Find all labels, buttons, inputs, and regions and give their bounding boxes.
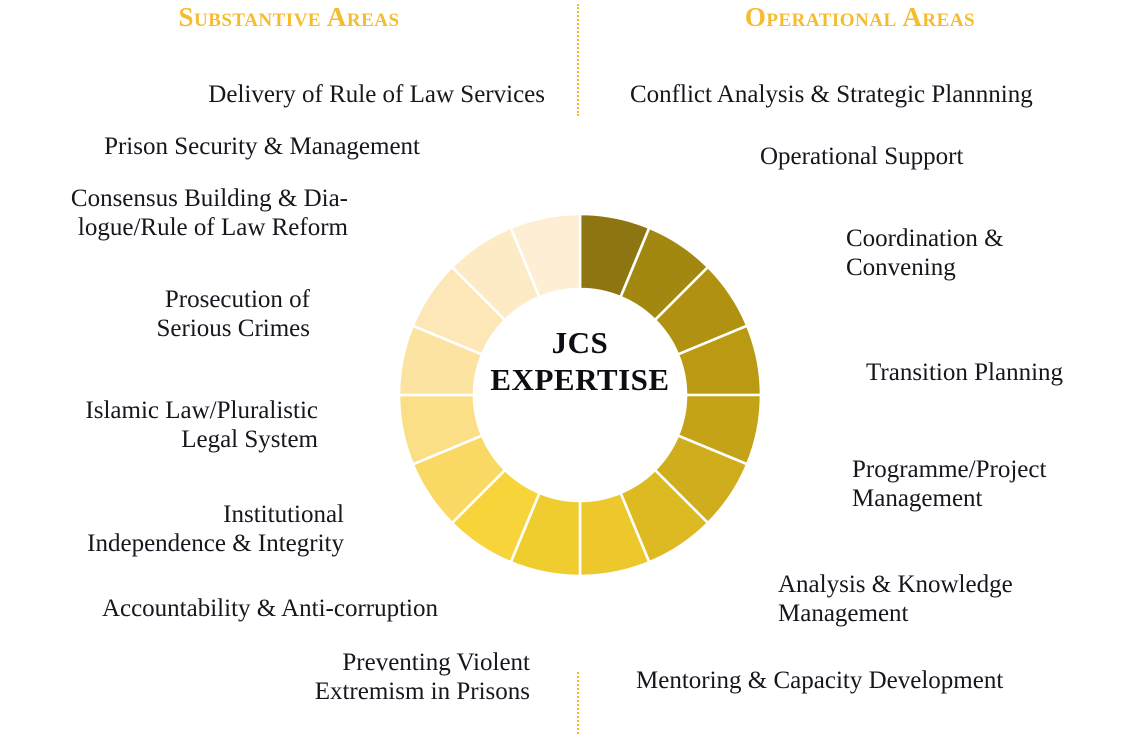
donut-segment-group <box>399 214 761 576</box>
label-line: Operational Support <box>760 142 1140 171</box>
label-line: Analysis & Knowledge <box>778 570 1140 599</box>
vertical-dotted-divider-top <box>577 4 579 116</box>
column-heading-operational-areas: Operational Areas <box>582 2 1138 33</box>
label-line: Management <box>852 484 1140 513</box>
segment-label-transition-planning: Transition Planning <box>866 358 1140 387</box>
donut-chart-svg <box>380 195 780 595</box>
segment-label-prison-security-and-management: Prison Security & Management <box>10 132 420 161</box>
label-line: Conflict Analysis & Strategic Plannning <box>630 80 1138 109</box>
segment-label-institutional-independence-and-integrity: InstitutionalIndependence & Integrity <box>6 500 344 559</box>
segment-label-mentoring-and-capacity-development: Mentoring & Capacity Development <box>636 666 1096 695</box>
segment-label-delivery-of-rule-of-law-services: Delivery of Rule of Law Services <box>10 80 545 109</box>
segment-label-consensus-building-and-dialogue: Consensus Building & Dia-logue/Rule of L… <box>6 184 348 243</box>
label-line: Institutional <box>6 500 344 529</box>
segment-label-coordination-and-convening: Coordination &Convening <box>846 224 1140 283</box>
segment-label-accountability-and-anti-corruption: Accountability & Anti-corruption <box>6 594 438 623</box>
label-line: Programme/Project <box>852 455 1140 484</box>
segment-label-prosecution-of-serious-crimes: Prosecution ofSerious Crimes <box>10 285 310 344</box>
label-line: Independence & Integrity <box>6 529 344 558</box>
column-heading-substantive-areas: Substantive Areas <box>0 2 578 33</box>
label-line: logue/Rule of Law Reform <box>6 213 348 242</box>
segment-label-preventing-violent-extremism-in-prisons: Preventing ViolentExtremism in Prisons <box>190 648 530 707</box>
label-line: Prison Security & Management <box>10 132 420 161</box>
segment-label-analysis-and-knowledge-management: Analysis & KnowledgeManagement <box>778 570 1140 629</box>
label-line: Consensus Building & Dia- <box>6 184 348 213</box>
label-line: Accountability & Anti-corruption <box>6 594 438 623</box>
label-line: Mentoring & Capacity Development <box>636 666 1096 695</box>
segment-label-conflict-analysis-and-strategic-planning: Conflict Analysis & Strategic Plannning <box>630 80 1138 109</box>
vertical-dotted-divider-bottom <box>577 672 579 734</box>
segment-label-islamic-law-pluralistic-legal-system: Islamic Law/PluralisticLegal System <box>6 396 318 455</box>
label-line: Coordination & <box>846 224 1140 253</box>
label-line: Prosecution of <box>10 285 310 314</box>
label-line: Islamic Law/Pluralistic <box>6 396 318 425</box>
label-line: Transition Planning <box>866 358 1140 387</box>
label-line: Extremism in Prisons <box>190 677 530 706</box>
jcs-expertise-diagram: Substantive Areas Operational Areas JCS … <box>0 0 1140 738</box>
segment-label-programme-project-management: Programme/ProjectManagement <box>852 455 1140 514</box>
label-line: Management <box>778 599 1140 628</box>
donut-chart <box>380 195 780 595</box>
label-line: Legal System <box>6 425 318 454</box>
label-line: Preventing Violent <box>190 648 530 677</box>
segment-label-operational-support: Operational Support <box>760 142 1140 171</box>
label-line: Delivery of Rule of Law Services <box>10 80 545 109</box>
label-line: Serious Crimes <box>10 314 310 343</box>
label-line: Convening <box>846 253 1140 282</box>
